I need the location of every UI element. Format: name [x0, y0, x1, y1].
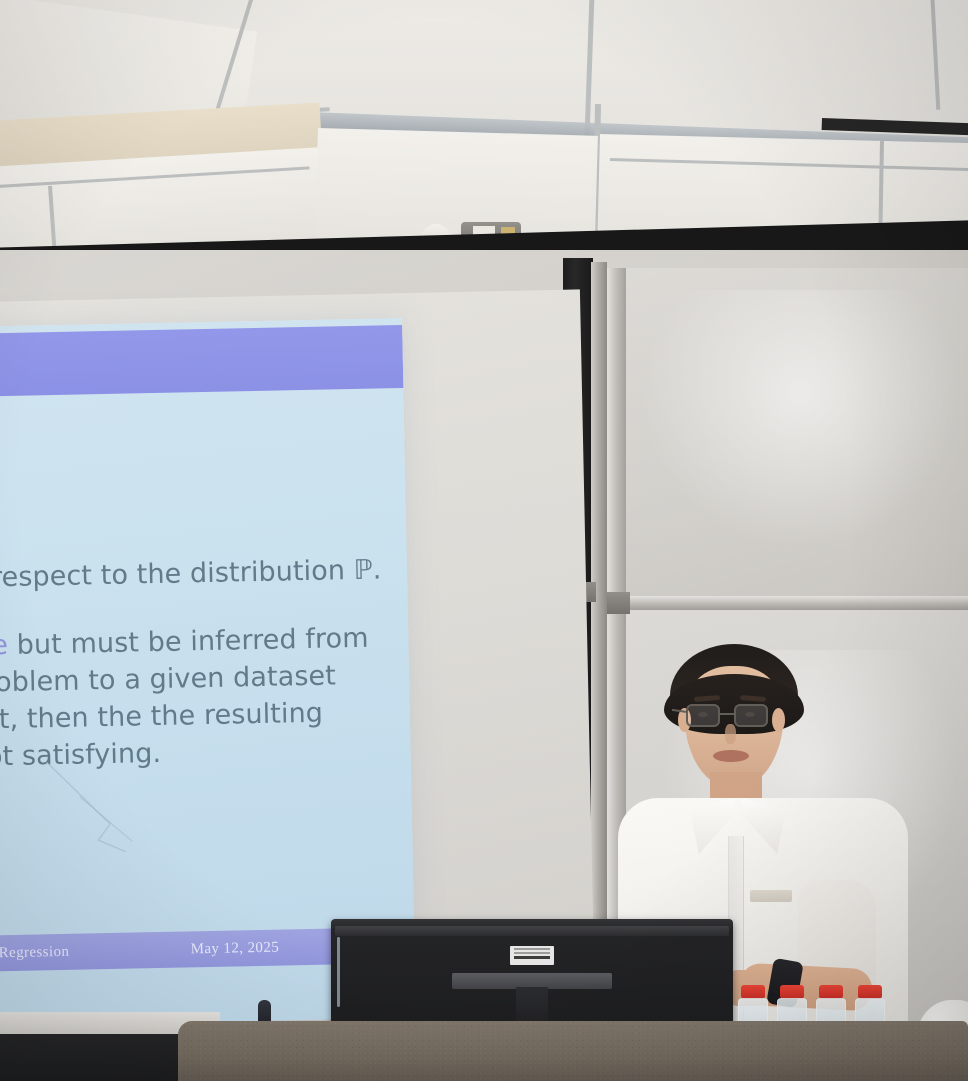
slide-footer-left: Regression: [0, 943, 69, 961]
lectern-fabric-texture: [178, 1021, 968, 1081]
whiteboard-rail-horizontal: [620, 596, 968, 610]
podium-shadow-area: [0, 1034, 200, 1081]
bottle-cap-icon: [741, 985, 765, 999]
lectern: [178, 1021, 968, 1081]
glasses-lens-right: [734, 704, 768, 727]
whiteboard-panel-upper-right: [626, 268, 968, 598]
bottle-cap-icon: [819, 985, 843, 999]
monitor-asset-sticker: [510, 946, 554, 965]
monitor-cable: [337, 937, 340, 1007]
presenter-nose: [725, 724, 736, 744]
shirt-pocket: [750, 890, 792, 902]
slide-footer-date: May 12, 2025: [190, 939, 279, 958]
bottle-cap-icon: [858, 985, 882, 999]
lecture-room-photo: ')], n respect to the distribution ℙ. bl…: [0, 0, 968, 1081]
whiteboard-bracket: [604, 592, 630, 614]
glasses-bridge: [720, 713, 734, 715]
presenter-ear-right: [772, 708, 785, 732]
bottle-cap-icon: [780, 985, 804, 999]
monitor-top-vent: [335, 926, 729, 936]
glasses-lens-left: [686, 704, 720, 727]
confidence-monitor[interactable]: [331, 919, 733, 1029]
presenter-mouth: [713, 750, 749, 762]
